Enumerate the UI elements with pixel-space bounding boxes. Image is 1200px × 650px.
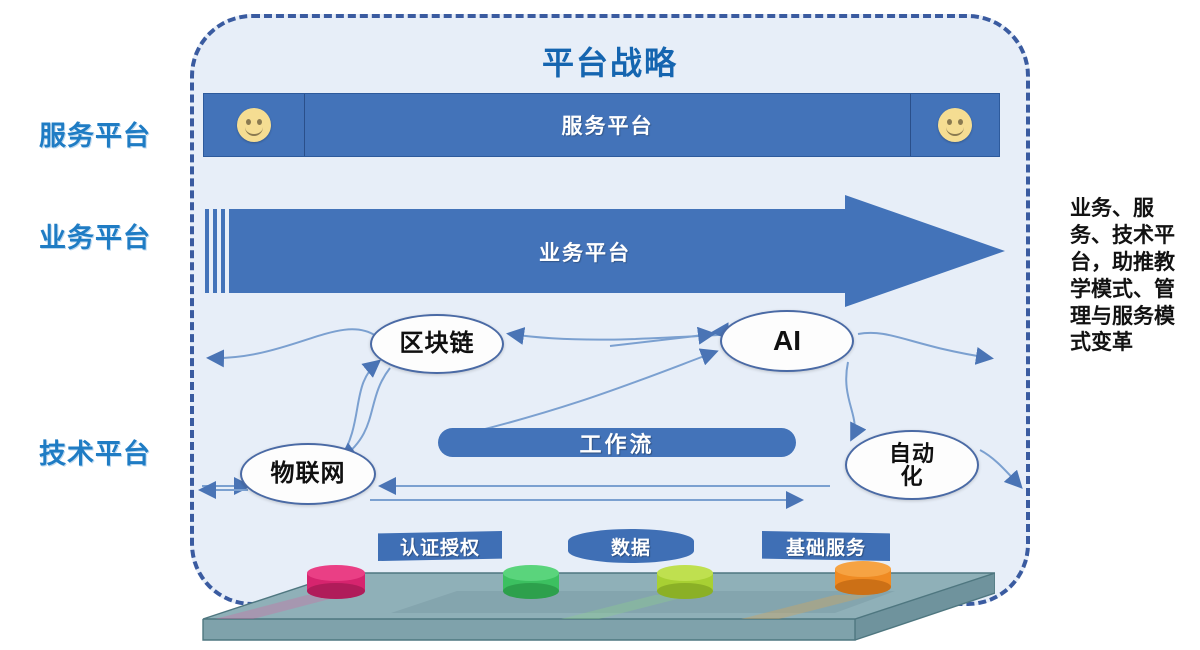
service-platform-bar: 服务平台 — [203, 93, 1000, 157]
node-ai[interactable]: AI — [720, 310, 854, 372]
node-iot[interactable]: 物联网 — [240, 443, 376, 505]
service-bar-right-segment — [911, 94, 999, 156]
foundation-slab — [195, 555, 995, 650]
page-title: 平台战略 — [330, 38, 890, 84]
diagram-canvas: 服务平台 业务平台 技术平台 平台战略 服务平台 业务平台 — [0, 0, 1200, 650]
service-bar-middle-segment: 服务平台 — [305, 94, 911, 156]
side-caption: 业务、服务、技术平台，助推教学模式、管理与服务模式变革 — [1070, 196, 1188, 357]
business-platform-arrow-label: 业务平台 — [205, 237, 965, 267]
workflow-bar: 工作流 — [438, 428, 796, 457]
node-blockchain[interactable]: 区块链 — [370, 314, 504, 374]
service-bar-left-segment — [204, 94, 305, 156]
node-automation[interactable]: 自动 化 — [845, 430, 979, 500]
smiley-face-icon — [938, 108, 972, 142]
row-label-technology-platform: 技术平台 — [10, 432, 180, 471]
row-label-business-platform: 业务平台 — [10, 216, 180, 255]
service-platform-bar-label: 服务平台 — [562, 110, 654, 140]
smiley-face-icon — [237, 108, 271, 142]
row-label-service-platform: 服务平台 — [10, 114, 180, 153]
